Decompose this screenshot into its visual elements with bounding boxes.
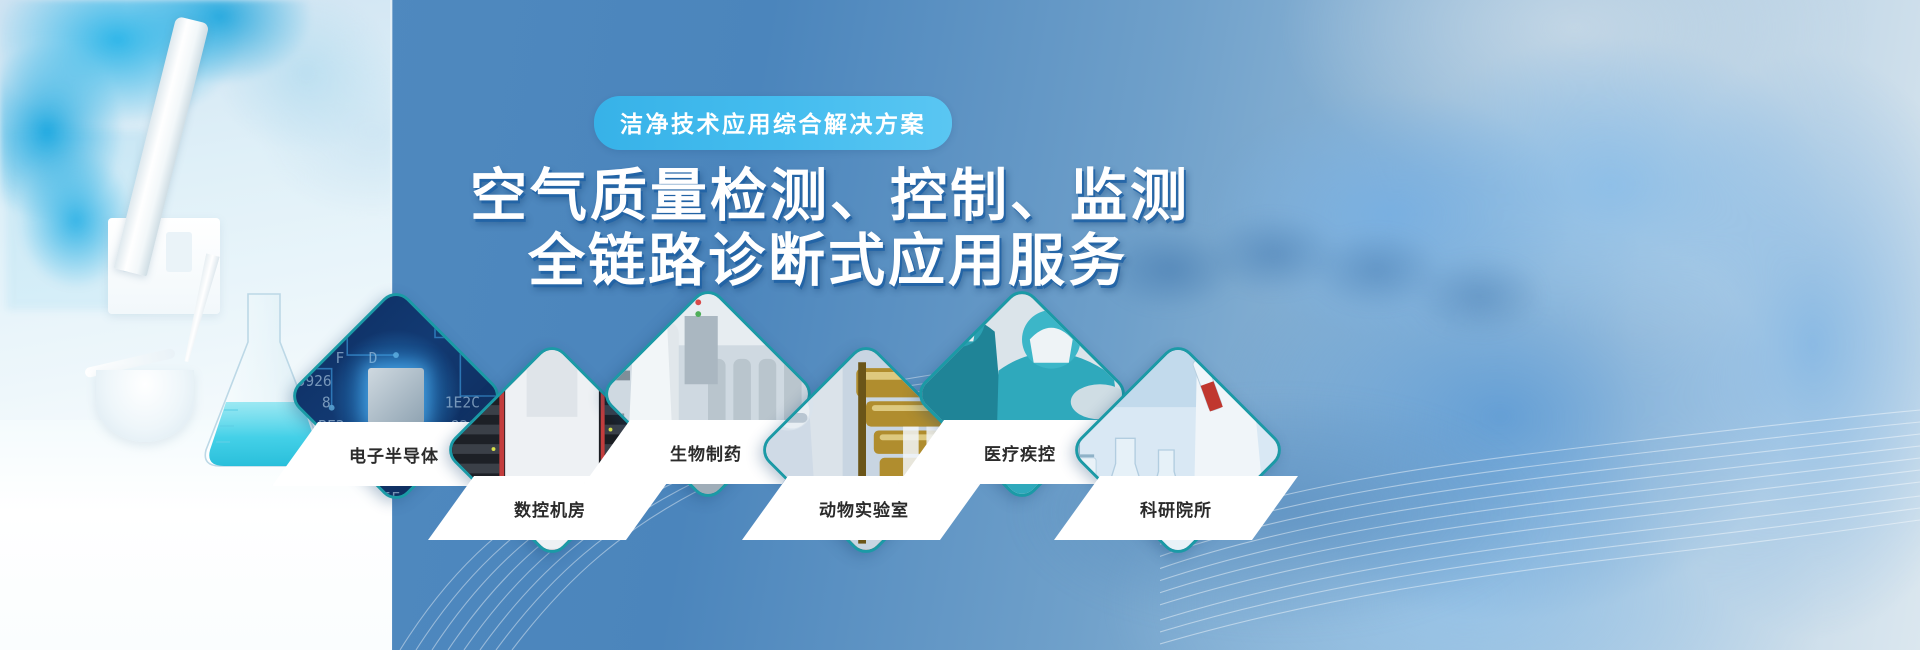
svg-text:E2: E2	[286, 350, 303, 367]
card-label-text: 科研院所	[1054, 496, 1298, 521]
svg-text:5926: 5926	[297, 373, 332, 390]
industry-card-row: E2FD 592678 0 E BF37 5936 B8 C9A1E2C 826…	[0, 0, 1920, 650]
card-label-text: 动物实验室	[742, 496, 986, 521]
card-label-text: 数控机房	[428, 496, 672, 521]
industry-card-semiconductor[interactable]: E2FD 592678 0 E BF37 5936 B8 C9A1E2C 826…	[318, 318, 468, 468]
industry-card-research[interactable]: 科研院所	[1100, 372, 1250, 522]
hero-banner: 洁净技术应用综合解决方案 空气质量检测、控制、监测 全链路诊断式应用服务	[0, 0, 1920, 650]
industry-card-biopharma[interactable]: 生物制药	[630, 316, 780, 466]
card-label-tab: 科研院所	[1054, 476, 1298, 540]
svg-text:2 3 0 B25F 14: 2 3 0 B25F 14	[312, 490, 427, 506]
svg-text:F: F	[336, 350, 345, 367]
svg-text:8: 8	[322, 395, 331, 412]
card-label-tab: 动物实验室	[742, 476, 986, 540]
industry-card-medical[interactable]: 医疗疾控	[944, 316, 1094, 466]
svg-text:7: 7	[286, 395, 294, 412]
svg-text:D: D	[369, 350, 378, 367]
chip-die	[368, 368, 424, 424]
